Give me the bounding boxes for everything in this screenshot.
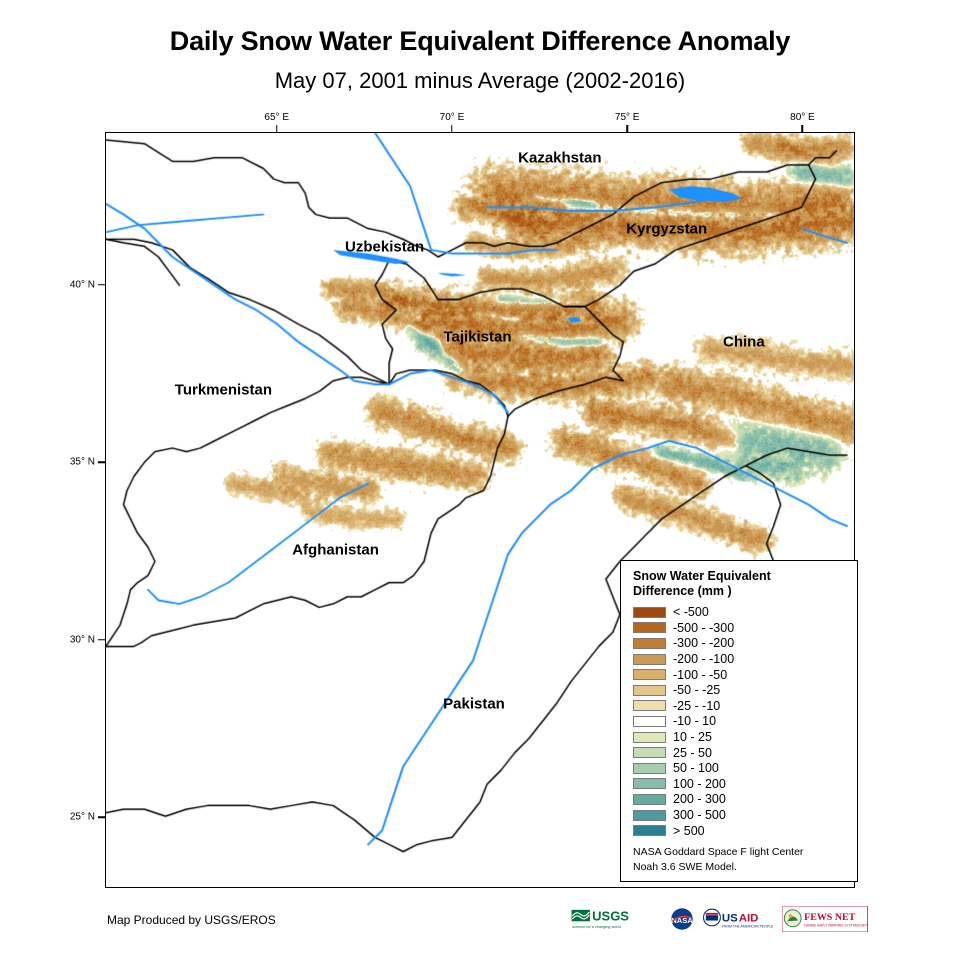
lat-label-25: 25° N [43, 812, 95, 823]
lon-tick [276, 125, 278, 132]
svg-text:FAMINE EARLY WARNING SYSTEMS N: FAMINE EARLY WARNING SYSTEMS NETWORK [805, 924, 868, 928]
legend-swatch [633, 685, 666, 696]
footer-credit: Map Produced by USGS/EROS [107, 913, 276, 927]
legend-swatch [633, 700, 666, 711]
legend-swatch [633, 607, 666, 618]
legend-panel: Snow Water Equivalent Difference (mm ) <… [620, 560, 858, 882]
svg-text:USGS: USGS [592, 909, 629, 924]
lon-label-65: 65° E [264, 112, 289, 123]
lat-label-30: 30° N [43, 634, 95, 645]
page-subtitle: May 07, 2001 minus Average (2002-2016) [0, 68, 960, 94]
legend-row: 200 - 300 [633, 792, 847, 808]
legend-swatch [633, 669, 666, 680]
legend-label: 10 - 25 [673, 730, 712, 744]
svg-text:US: US [722, 912, 738, 924]
legend-swatch [633, 825, 666, 836]
legend-row: 50 - 100 [633, 760, 847, 776]
legend-row: -25 - -10 [633, 698, 847, 714]
legend-label: -25 - -10 [673, 699, 720, 713]
legend-label: < -500 [673, 605, 709, 619]
lat-tick [98, 639, 105, 641]
legend-row: > 500 [633, 823, 847, 839]
legend-swatch [633, 638, 666, 649]
svg-text:FEWS NET: FEWS NET [805, 912, 856, 923]
lon-label-80: 80° E [790, 112, 815, 123]
lon-tick [451, 125, 453, 132]
legend-swatch [633, 716, 666, 727]
legend-row: 100 - 200 [633, 776, 847, 792]
legend-row: < -500 [633, 605, 847, 621]
legend-label: 100 - 200 [673, 777, 726, 791]
legend-row: -300 - -200 [633, 636, 847, 652]
svg-text:science for a changing world: science for a changing world [572, 925, 620, 929]
legend-title-line1: Snow Water Equivalent [633, 569, 847, 584]
lon-label-70: 70° E [440, 112, 465, 123]
lat-label-40: 40° N [43, 279, 95, 290]
legend-swatch [633, 794, 666, 805]
legend-class-list: < -500-500 - -300-300 - -200-200 - -100-… [633, 605, 847, 839]
legend-source: NASA Goddard Space F light Center Noah 3… [633, 845, 847, 873]
logo-strip: USGS science for a changing world NASA U… [570, 906, 868, 932]
legend-swatch [633, 622, 666, 633]
legend-swatch [633, 747, 666, 758]
legend-row: -50 - -25 [633, 682, 847, 698]
fewsnet-logo: FEWS NET FAMINE EARLY WARNING SYSTEMS NE… [782, 906, 868, 932]
usaid-logo: US AID FROM THE AMERICAN PEOPLE [702, 906, 775, 932]
legend-source-line2: Noah 3.6 SWE Model. [633, 860, 847, 874]
legend-row: -200 - -100 [633, 651, 847, 667]
legend-row: -10 - 10 [633, 714, 847, 730]
page-title: Daily Snow Water Equivalent Difference A… [0, 26, 960, 57]
legend-label: 200 - 300 [673, 792, 726, 806]
legend-label: 300 - 500 [673, 808, 726, 822]
lat-tick [98, 816, 105, 818]
lat-label-35: 35° N [43, 457, 95, 468]
legend-label: -200 - -100 [673, 652, 734, 666]
nasa-logo: NASA [669, 906, 695, 932]
legend-label: 50 - 100 [673, 761, 719, 775]
legend-row: 10 - 25 [633, 729, 847, 745]
legend-swatch [633, 763, 666, 774]
legend-row: -500 - -300 [633, 620, 847, 636]
legend-label: > 500 [673, 824, 705, 838]
legend-title: Snow Water Equivalent Difference (mm ) [633, 569, 847, 600]
svg-text:FROM THE AMERICAN PEOPLE: FROM THE AMERICAN PEOPLE [722, 924, 774, 928]
legend-swatch [633, 732, 666, 743]
legend-label: 25 - 50 [673, 746, 712, 760]
legend-row: 25 - 50 [633, 745, 847, 761]
usgs-logo: USGS science for a changing world [570, 906, 662, 932]
svg-text:AID: AID [739, 912, 759, 924]
legend-swatch [633, 810, 666, 821]
legend-swatch [633, 778, 666, 789]
legend-label: -300 - -200 [673, 636, 734, 650]
legend-label: -50 - -25 [673, 683, 720, 697]
lat-tick [98, 284, 105, 286]
legend-row: 300 - 500 [633, 807, 847, 823]
lat-tick [98, 461, 105, 463]
legend-source-line1: NASA Goddard Space F light Center [633, 845, 847, 859]
legend-label: -100 - -50 [673, 668, 727, 682]
legend-label: -500 - -300 [673, 621, 734, 635]
lon-label-75: 75° E [615, 112, 640, 123]
lon-tick [626, 125, 628, 132]
legend-row: -100 - -50 [633, 667, 847, 683]
lon-tick [802, 125, 804, 132]
legend-swatch [633, 654, 666, 665]
legend-label: -10 - 10 [673, 714, 716, 728]
legend-title-line2: Difference (mm ) [633, 584, 847, 599]
